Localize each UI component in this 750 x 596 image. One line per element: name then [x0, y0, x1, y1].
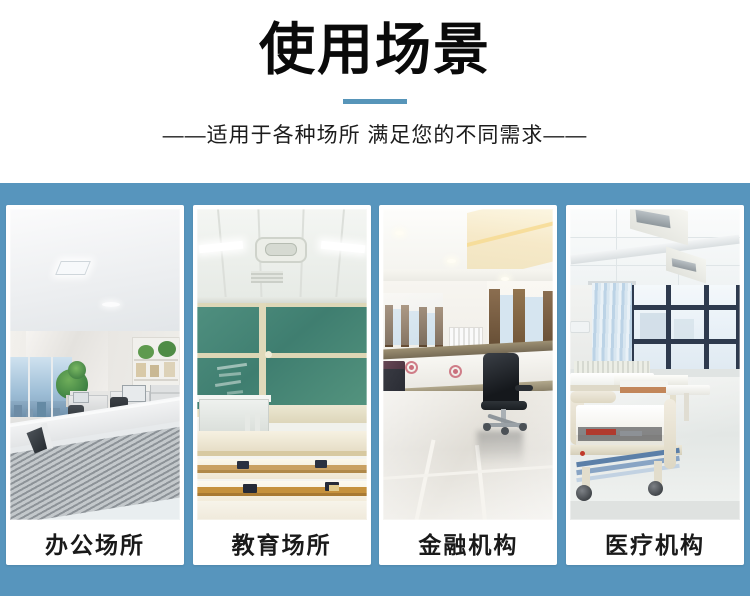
office-shelf-row: [134, 379, 178, 381]
scenario-card-finance[interactable]: 金融机构: [379, 205, 557, 565]
hospital-privacy-curtain: [592, 283, 632, 369]
bank-mirror-reflection: [383, 293, 443, 345]
hospital-window-frame: [628, 339, 740, 344]
office-ceiling: [10, 209, 180, 349]
page-root: 使用场景 ——适用于各种场所 满足您的不同需求——: [0, 0, 750, 596]
bank-chair-reflection: [477, 431, 523, 465]
bank-office-chair-arm: [515, 385, 533, 391]
office-potted-plant-top: [68, 361, 86, 379]
office-window-mullion: [28, 357, 30, 423]
office-monitor: [73, 392, 89, 403]
office-shelf-box: [136, 363, 146, 377]
hospital-overbed-table-leg: [684, 393, 689, 421]
hospital-bed-mechanism: [586, 429, 616, 435]
page-subtitle: ——适用于各种场所 满足您的不同需求——: [163, 123, 588, 149]
scenario-label-office: 办公场所: [10, 520, 180, 565]
classroom-ceiling-vent: [251, 271, 283, 283]
classroom-floor: [197, 501, 367, 520]
hospital-bed-mechanism: [620, 431, 642, 436]
classroom-desk-rail-shadow: [197, 470, 367, 473]
office-scene-image: [10, 209, 180, 520]
classroom-desk-row: [197, 431, 367, 453]
office-shelf-box: [164, 362, 175, 377]
scenario-card-education[interactable]: 教育场所: [193, 205, 371, 565]
scenario-card-medical[interactable]: 医疗机构: [566, 205, 744, 565]
hospital-floor-strip: [570, 501, 740, 520]
classroom-wall-band: [267, 405, 367, 423]
scenario-label-finance: 金融机构: [383, 520, 553, 565]
office-panel-light-icon: [55, 261, 91, 275]
classroom-board-knob: [265, 351, 272, 358]
office-shelf-plant: [138, 345, 154, 359]
scenario-label-medical: 医疗机构: [570, 520, 740, 565]
classroom-desk-clip-accent: [329, 485, 339, 491]
bank-office-chair-back: [483, 353, 519, 405]
classroom-scene-image: [197, 209, 367, 520]
hospital-bed-control-button: [580, 451, 585, 456]
hospital-bed-caster-wheel: [576, 485, 592, 501]
office-shelf-plant: [158, 341, 176, 357]
page-header: 使用场景 ——适用于各种场所 满足您的不同需求——: [0, 0, 750, 183]
classroom-board-divider: [197, 353, 367, 358]
office-window-mullion: [51, 357, 53, 423]
classroom-desk-clip: [243, 484, 257, 493]
hospital-window-frame: [628, 305, 740, 310]
page-title: 使用场景: [259, 17, 491, 83]
hospital-window-frame: [736, 285, 740, 375]
hospital-bed-headboard-top: [570, 391, 616, 403]
scenario-label-education: 教育场所: [197, 520, 367, 565]
scenario-card-row: 办公场所: [0, 183, 750, 596]
office-shelf-row: [134, 359, 178, 361]
classroom-projector-lens: [265, 243, 297, 256]
hospital-bed-caster-wheel: [648, 481, 663, 496]
scenario-card-office[interactable]: 办公场所: [6, 205, 184, 565]
office-ceiling-spot: [102, 302, 120, 307]
hospital-window-frame: [704, 285, 709, 375]
hospital-outside-building: [640, 313, 666, 339]
hospital-scene-image: [570, 209, 740, 520]
hospital-outside-building: [674, 319, 694, 339]
hospital-bed-footboard: [664, 399, 676, 469]
classroom-desk-edge: [197, 451, 367, 456]
hospital-ceiling-grid: [570, 265, 740, 266]
hospital-wall-unit: [570, 321, 590, 333]
hospital-bed-tray-wood: [620, 387, 668, 393]
bank-scene-image: [383, 209, 553, 520]
classroom-desk-rail-shadow: [197, 493, 367, 496]
title-accent-bar: [343, 99, 407, 104]
office-shelf-box: [150, 365, 159, 377]
bank-floor-sheen: [383, 391, 553, 520]
classroom-desk-clip: [237, 461, 249, 469]
classroom-desk-clip: [315, 460, 327, 468]
hospital-window-frame: [666, 285, 671, 375]
